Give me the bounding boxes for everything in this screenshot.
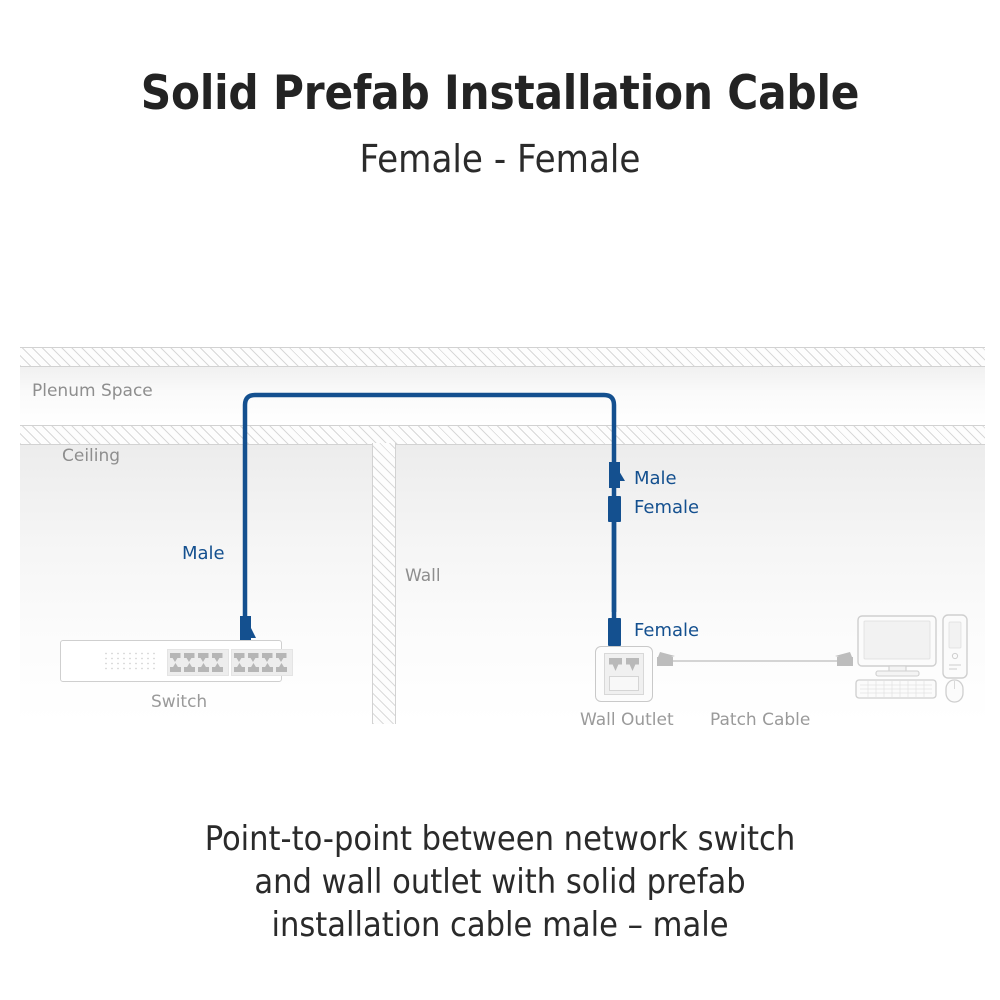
page-title: Solid Prefab Installation Cable	[0, 66, 1000, 121]
switch-port-column	[232, 653, 246, 673]
switch-port	[234, 653, 245, 662]
label-female-outlet: Female	[634, 620, 699, 641]
switch-port-column	[260, 653, 274, 673]
switch-port-bank-1	[167, 649, 229, 676]
label-male-switch: Male	[182, 543, 225, 564]
caption-line-3: installation cable male – male	[0, 904, 1000, 947]
rj45-jack-icon	[609, 658, 622, 671]
switch-port-column	[274, 653, 288, 673]
switch-port	[198, 663, 209, 672]
switch-port	[262, 663, 273, 672]
patch-cable	[655, 648, 855, 674]
caption-line-2: and wall outlet with solid prefab	[0, 861, 1000, 904]
label-female-drop: Female	[634, 497, 699, 518]
desktop-computer-icon	[848, 612, 988, 704]
wall-outlet-faceplate	[604, 653, 644, 695]
network-switch	[60, 640, 282, 682]
wall-outlet	[595, 646, 653, 702]
label-male-drop: Male	[634, 468, 677, 489]
diagram-page: Solid Prefab Installation Cable Female -…	[0, 0, 1000, 1000]
switch-port	[262, 653, 273, 662]
patch-cable-label: Patch Cable	[710, 710, 810, 730]
connector-male-drop	[601, 462, 629, 494]
switch-port	[170, 653, 181, 662]
page-subtitle: Female - Female	[0, 137, 1000, 181]
switch-port	[248, 663, 259, 672]
switch-port	[184, 653, 195, 662]
wall-outlet-label-strip	[609, 676, 639, 691]
plenum-space-label: Plenum Space	[32, 381, 153, 401]
switch-port	[184, 663, 195, 672]
plenum-space-zone	[20, 366, 985, 424]
wall-outlet-label: Wall Outlet	[580, 710, 674, 730]
wall-hatch-band	[372, 443, 396, 724]
switch-port	[212, 653, 223, 662]
switch-port-column	[182, 653, 196, 673]
switch-port	[248, 653, 259, 662]
switch-port	[170, 663, 181, 672]
connector-female-drop	[608, 496, 621, 522]
connector-female-outlet	[608, 618, 621, 646]
figure-caption: Point-to-point between network switch an…	[0, 818, 1000, 947]
switch-port-bank-2	[231, 649, 293, 676]
switch-port	[212, 663, 223, 672]
wall-label: Wall	[405, 566, 441, 586]
switch-port-column	[246, 653, 260, 673]
switch-port-column	[210, 653, 224, 673]
switch-port	[276, 663, 287, 672]
wall-outlet-jack-row	[609, 658, 639, 672]
switch-port	[198, 653, 209, 662]
switch-port	[276, 653, 287, 662]
ceiling-label: Ceiling	[62, 446, 120, 466]
caption-line-1: Point-to-point between network switch	[0, 818, 1000, 861]
rj45-jack-icon	[626, 658, 639, 671]
ceiling-hatch-band	[20, 425, 985, 445]
switch-port-column	[196, 653, 210, 673]
roof-hatch-band	[20, 347, 985, 367]
installation-diagram: Plenum Space Ceiling Wall Male Male	[0, 330, 1000, 760]
switch-port	[234, 663, 245, 672]
switch-label: Switch	[151, 692, 207, 712]
switch-vents-icon	[103, 651, 159, 671]
switch-port-column	[168, 653, 182, 673]
